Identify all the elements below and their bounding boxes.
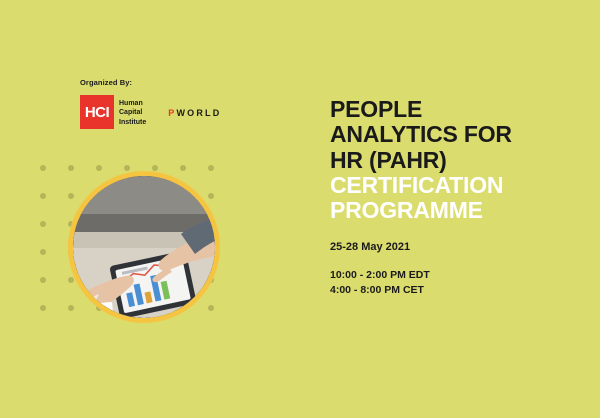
hci-word-line1: Human	[119, 99, 146, 108]
hci-word-line2: Capital	[119, 108, 146, 117]
photo-illustration	[73, 176, 215, 318]
headline-line-4: CERTIFICATION	[330, 172, 503, 198]
photo-circle-frame	[68, 171, 220, 323]
event-times: 10:00 - 2:00 PM EDT 4:00 - 8:00 PM CET	[330, 268, 430, 298]
grid-dot	[40, 305, 46, 311]
grid-dot	[208, 305, 214, 311]
event-dates: 25-28 May 2021	[330, 241, 410, 253]
pworld-logo: PWORLD	[168, 108, 221, 118]
grid-dot	[208, 193, 214, 199]
event-poster: Organized By: HCI Human Capital Institut…	[0, 0, 600, 418]
headline-line-2: ANALYTICS FOR	[330, 121, 512, 147]
organized-by-label: Organized By:	[80, 78, 132, 87]
headline-line-3: HR (PAHR)	[330, 147, 447, 173]
grid-dot	[152, 165, 158, 171]
event-time-cet: 4:00 - 8:00 PM CET	[330, 284, 424, 296]
grid-dot	[96, 165, 102, 171]
grid-dot	[68, 165, 74, 171]
hci-logo-wordmark: Human Capital Institute	[119, 95, 146, 131]
hci-logo: HCI Human Capital Institute	[80, 95, 146, 131]
headline-line-1: PEOPLE	[330, 96, 422, 122]
grid-dot	[40, 221, 46, 227]
grid-dot	[40, 193, 46, 199]
grid-dot	[68, 305, 74, 311]
event-time-edt: 10:00 - 2:00 PM EDT	[330, 269, 430, 281]
photo-image	[73, 176, 215, 318]
hci-word-line3: Institute	[119, 118, 146, 127]
grid-dot	[68, 193, 74, 199]
headline-line-5: PROGRAMME	[330, 197, 483, 223]
grid-dot	[40, 277, 46, 283]
pworld-rest: WORLD	[176, 108, 221, 118]
hci-logo-mark: HCI	[80, 95, 114, 129]
grid-dot	[180, 165, 186, 171]
grid-dot	[40, 249, 46, 255]
grid-dot	[124, 165, 130, 171]
grid-dot	[68, 277, 74, 283]
grid-dot	[40, 165, 46, 171]
grid-dot	[208, 165, 214, 171]
organizer-logos: HCI Human Capital Institute PWORLD	[80, 95, 221, 131]
page-title: PEOPLE ANALYTICS FOR HR (PAHR) CERTIFICA…	[330, 97, 570, 223]
